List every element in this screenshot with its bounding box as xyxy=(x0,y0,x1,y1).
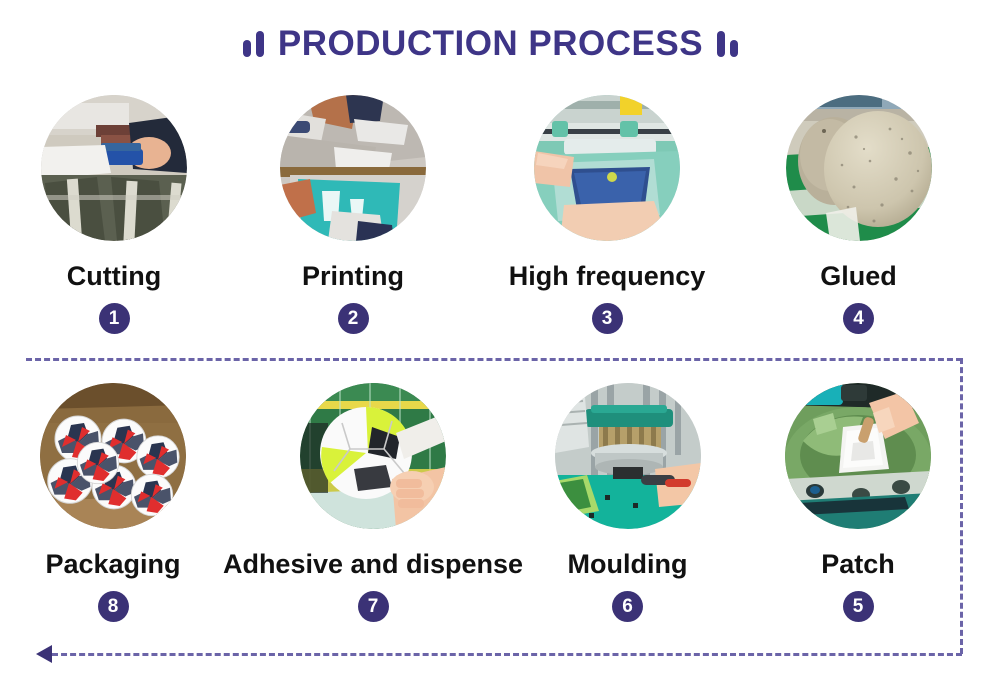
step-image-printing xyxy=(280,95,426,241)
step-badge: 6 xyxy=(612,591,643,622)
step-badge: 1 xyxy=(99,303,130,334)
process-step-printing[interactable]: Printing 2 xyxy=(228,95,478,334)
step-label: Printing xyxy=(302,263,404,290)
step-image-cutting xyxy=(41,95,187,241)
connector-line-middle xyxy=(26,358,962,361)
step-label: Adhesive and dispense xyxy=(223,551,523,578)
step-label: Moulding xyxy=(568,551,688,578)
step-badge: 8 xyxy=(98,591,129,622)
step-image-glued xyxy=(786,95,932,241)
step-image-moulding xyxy=(555,383,701,529)
page-title: PRODUCTION PROCESS xyxy=(278,26,703,61)
step-badge: 3 xyxy=(592,303,623,334)
process-step-high-frequency[interactable]: High frequency 3 xyxy=(478,95,736,334)
step-image-patch xyxy=(785,383,931,529)
process-step-moulding[interactable]: Moulding 6 xyxy=(520,383,735,622)
step-image-adhesive-and-dispense xyxy=(300,383,446,529)
step-label: High frequency xyxy=(509,263,706,290)
step-badge: 7 xyxy=(358,591,389,622)
arrow-left-icon xyxy=(36,645,52,663)
process-step-adhesive-and-dispense[interactable]: Adhesive and dispense 7 xyxy=(226,383,520,622)
bar-mark-left-icon xyxy=(243,30,264,57)
step-badge: 5 xyxy=(843,591,874,622)
process-step-cutting[interactable]: Cutting 1 xyxy=(0,95,228,334)
step-image-high-frequency xyxy=(534,95,680,241)
production-process-infographic: PRODUCTION PROCESS xyxy=(0,0,981,675)
process-row-top: Cutting 1 xyxy=(0,95,981,334)
process-row-bottom: Packaging 8 xyxy=(0,383,981,622)
step-badge: 4 xyxy=(843,303,874,334)
step-label: Cutting xyxy=(67,263,161,290)
process-step-glued[interactable]: Glued 4 xyxy=(736,95,981,334)
header: PRODUCTION PROCESS xyxy=(0,26,981,61)
connector-line-bottom xyxy=(52,653,962,656)
step-label: Packaging xyxy=(45,551,180,578)
process-step-packaging[interactable]: Packaging 8 xyxy=(0,383,226,622)
step-label: Glued xyxy=(820,263,897,290)
process-step-patch[interactable]: Patch 5 xyxy=(735,383,981,622)
step-badge: 2 xyxy=(338,303,369,334)
step-image-packaging xyxy=(40,383,186,529)
bar-mark-right-icon xyxy=(717,30,738,57)
step-label: Patch xyxy=(821,551,895,578)
